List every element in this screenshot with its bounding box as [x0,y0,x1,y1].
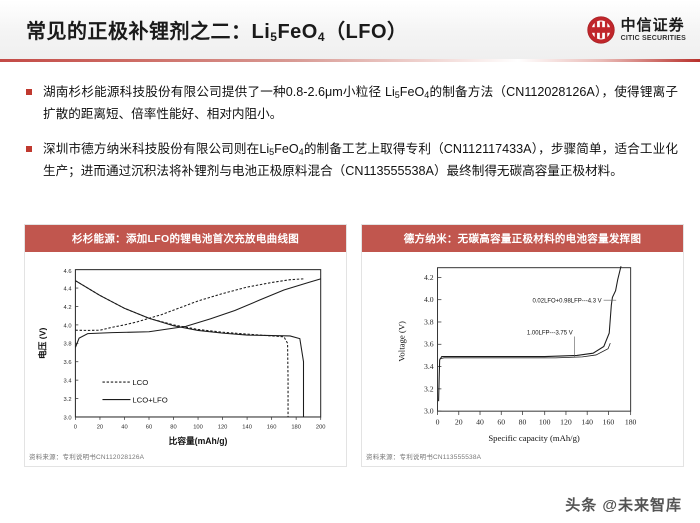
bullet1-sub2: 4 [424,90,429,100]
y-axis-title: Voltage (V) [397,321,407,362]
svg-text:140: 140 [581,418,593,427]
bullet1-seg2: FeO [400,85,425,99]
citic-emblem-icon [587,16,615,44]
annotation-lfo-lfp: 0.02LFO+0.98LFP---4.3 V [532,299,601,305]
svg-text:100: 100 [539,418,551,427]
page-title-sub-4: 4 [318,30,325,44]
bullet2-seg1: 深圳市德方纳米科技股份有限公司则在Li [43,142,269,156]
panel-right-source: 资料来源：专利说明书CN113555538A [362,448,683,466]
svg-text:3.4: 3.4 [424,362,434,371]
x-axis-ticks: 0 20 40 60 80 100 120 140 160 180 [436,411,637,427]
svg-text:60: 60 [497,418,505,427]
svg-text:3.2: 3.2 [64,397,72,403]
svg-text:20: 20 [455,418,463,427]
svg-text:0: 0 [436,418,440,427]
legend-label-lcolfo: LCO+LFO [132,395,167,404]
svg-text:0: 0 [74,425,77,431]
panel-left-title: 杉杉能源：添加LFO的锂电池首次充放电曲线图 [25,225,346,252]
svg-text:4.0: 4.0 [424,295,434,304]
svg-text:100: 100 [193,425,203,431]
page-title-prefix: 常见的正极补锂剂之二：Li [26,21,270,43]
svg-text:200: 200 [316,425,326,431]
svg-text:80: 80 [170,425,176,431]
panel-right-title: 德方纳米：无碳高容量正极材料的电池容量发挥图 [362,225,683,252]
svg-text:4.4: 4.4 [64,286,73,292]
svg-text:3.6: 3.6 [424,340,434,349]
svg-text:4.2: 4.2 [64,305,72,311]
panel-left-source: 资料来源：专利说明书CN112028126A [25,448,346,466]
svg-text:40: 40 [121,425,127,431]
x-axis-ticks: 0 20 40 60 80 100 120 140 160 180 200 [74,417,326,431]
bullet-square-icon [26,89,32,95]
svg-text:120: 120 [218,425,228,431]
bullet1-seg1: 湖南杉杉能源科技股份有限公司提供了一种0.8-2.6μm小粒径 Li [43,85,395,99]
svg-text:160: 160 [603,418,615,427]
chart-voltage-capacity: 3.0 3.2 3.4 3.6 3.8 4.0 4.2 [368,258,677,448]
bullet-square-icon [26,146,32,152]
watermark: 头条 @未来智库 [565,494,682,515]
svg-text:160: 160 [267,425,277,431]
page-title-suffix: （LFO） [325,21,408,43]
bullet-text-2: 深圳市德方纳米科技股份有限公司则在Li5FeO4的制备工艺上取得专利（CN112… [43,139,678,182]
svg-text:20: 20 [97,425,103,431]
svg-text:3.0: 3.0 [424,407,434,416]
chart-panels: 杉杉能源：添加LFO的锂电池首次充放电曲线图 3.0 3.2 3.4 3.6 3… [24,224,684,467]
svg-text:140: 140 [242,425,252,431]
svg-text:120: 120 [560,418,572,427]
bullet-list: 湖南杉杉能源科技股份有限公司提供了一种0.8-2.6μm小粒径 Li5FeO4的… [0,62,700,183]
svg-text:60: 60 [146,425,152,431]
bullet2-sub1: 5 [269,147,274,157]
brand-logo: 中信证券 CITIC SECURITIES [587,16,686,44]
annotation-lfp: 1.00LFP---3.75 V [527,331,573,337]
x-axis-title: Specific capacity (mAh/g) [488,433,580,443]
svg-text:3.8: 3.8 [64,342,72,348]
panel-right: 德方纳米：无碳高容量正极材料的电池容量发挥图 3.0 3.2 3.4 3.6 3… [361,224,684,467]
bullet2-sub2: 4 [299,147,304,157]
svg-text:40: 40 [476,418,484,427]
chart-discharge-curves: 3.0 3.2 3.4 3.6 3.8 4.0 4.2 4.4 4.6 [31,258,340,448]
bullet1-sub1: 5 [395,90,400,100]
svg-text:4.2: 4.2 [424,273,434,282]
page-header: 常见的正极补锂剂之二：Li5FeO4（LFO） 中信证券 CITIC SECUR… [0,0,700,59]
panel-left-chart: 3.0 3.2 3.4 3.6 3.8 4.0 4.2 4.4 4.6 [25,252,346,448]
bullet-text-1: 湖南杉杉能源科技股份有限公司提供了一种0.8-2.6μm小粒径 Li5FeO4的… [43,82,678,125]
svg-text:4.6: 4.6 [64,269,72,275]
list-item: 湖南杉杉能源科技股份有限公司提供了一种0.8-2.6μm小粒径 Li5FeO4的… [26,82,678,125]
logo-name-cn: 中信证券 [621,18,686,33]
panel-left: 杉杉能源：添加LFO的锂电池首次充放电曲线图 3.0 3.2 3.4 3.6 3… [24,224,347,467]
x-axis-title: 比容量(mAh/g) [169,435,228,446]
legend-label-lco: LCO [132,378,148,387]
svg-text:180: 180 [291,425,301,431]
bullet2-seg2: FeO [274,142,299,156]
svg-text:4.0: 4.0 [64,323,72,329]
svg-text:3.4: 3.4 [64,379,73,385]
y-axis-title: 电压 (V) [37,327,48,359]
list-item: 深圳市德方纳米科技股份有限公司则在Li5FeO4的制备工艺上取得专利（CN112… [26,139,678,182]
page-title: 常见的正极补锂剂之二：Li5FeO4（LFO） [26,15,408,44]
svg-text:3.8: 3.8 [424,317,434,326]
svg-text:3.2: 3.2 [424,384,434,393]
svg-text:80: 80 [519,418,527,427]
svg-text:180: 180 [625,418,637,427]
svg-text:3.0: 3.0 [64,415,72,421]
page-title-mid: FeO [277,21,317,43]
svg-text:3.6: 3.6 [64,360,72,366]
logo-name-en: CITIC SECURITIES [621,35,686,42]
page-title-sub-5: 5 [270,30,277,44]
panel-right-chart: 3.0 3.2 3.4 3.6 3.8 4.0 4.2 [362,252,683,448]
